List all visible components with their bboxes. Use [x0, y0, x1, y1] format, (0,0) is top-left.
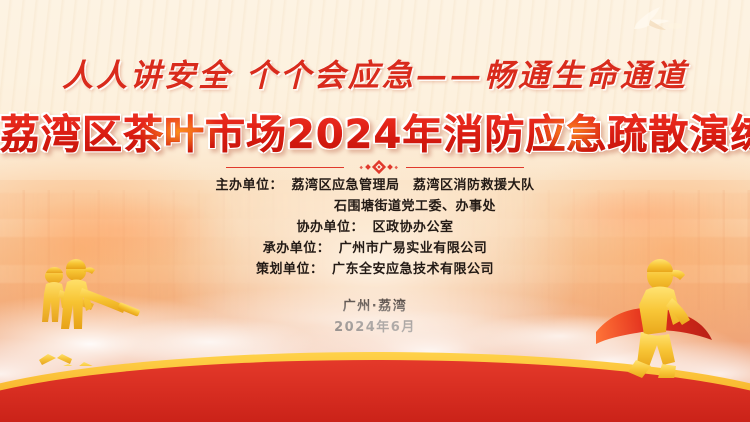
organizer-value: 石围塘街道党工委、办事处	[330, 197, 496, 217]
dove-icon	[630, 4, 684, 38]
slogan-text: 人人讲安全 个个会应急——畅通生命通道	[0, 50, 750, 95]
diamond-ornament-icon	[352, 160, 398, 174]
firefighter-silhouette-icon	[610, 256, 706, 378]
organizer-row: 主办单位： 荔湾区应急管理局 荔湾区消防救援大队	[215, 176, 534, 196]
organizer-value: 荔湾区应急管理局 荔湾区消防救援大队	[287, 176, 534, 196]
divider	[0, 160, 750, 174]
organizer-label: 主办单位：	[215, 176, 287, 196]
organizer-row: 石围塘街道党工委、办事处	[254, 197, 496, 217]
divider-line-left	[226, 167, 344, 168]
poster-canvas: 人人讲安全 个个会应急——畅通生命通道 荔湾区茶叶市场2024年消防应急疏散演练…	[0, 0, 750, 422]
firefighter-hose-silhouette-icon	[24, 256, 144, 366]
page-title: 荔湾区茶叶市场2024年消防应急疏散演练	[0, 102, 750, 160]
divider-line-right	[406, 167, 524, 168]
